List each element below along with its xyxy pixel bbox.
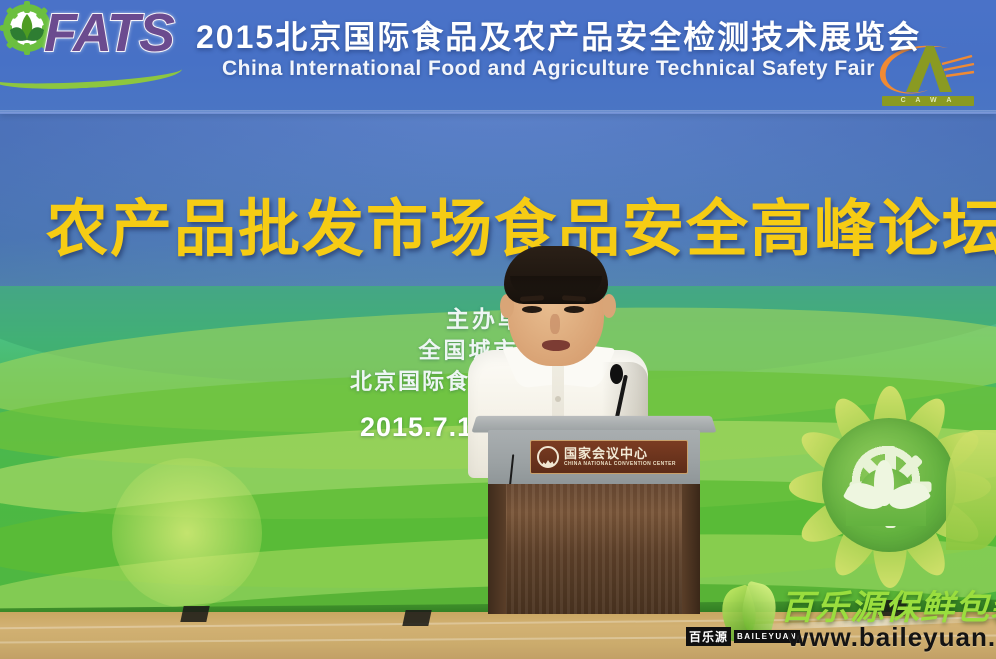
banner-headline-cn: 2015北京国际食品及农产品安全检测技术展览会 — [196, 12, 856, 58]
cawa-label: C A W A — [882, 96, 974, 106]
podium-body-left — [488, 484, 506, 614]
lectern-podium: 国家会议中心 CHINA NATIONAL CONVENTION CENTER — [474, 414, 714, 614]
venue-name-en: CHINA NATIONAL CONVENTION CENTER — [564, 462, 676, 467]
backdrop-clip — [180, 606, 209, 622]
watermark-url: www.baileyuan.cn — [788, 622, 996, 653]
eye-left — [522, 306, 542, 313]
shirt-button — [555, 396, 561, 402]
fats-wordmark: FATS — [44, 2, 174, 64]
podium-wood-body — [504, 484, 684, 614]
backdrop-clip — [402, 610, 431, 626]
eye-right — [564, 306, 584, 313]
venue-plaque: 国家会议中心 CHINA NATIONAL CONVENTION CENTER — [530, 440, 688, 474]
edge-petal — [946, 430, 996, 550]
fats-logo: FATS — [0, 0, 182, 102]
ccnc-logo-icon — [537, 446, 559, 468]
sun-circle — [112, 458, 262, 608]
ear-right — [602, 294, 616, 318]
conference-photo: FATS C A W A 2015北京国际食品及农产品安全检测技术展览会 Chi… — [0, 0, 996, 659]
speaker-hair — [504, 246, 608, 304]
nose — [550, 314, 560, 334]
banner-edge — [0, 110, 996, 114]
microphone-head-icon — [610, 364, 623, 384]
watermark-badge: 百乐源 BAILEYUAN — [686, 626, 800, 646]
banner-headline-en: China International Food and Agriculture… — [222, 57, 842, 81]
venue-plaque-text: 国家会议中心 CHINA NATIONAL CONVENTION CENTER — [564, 447, 676, 467]
cawa-bar: C A W A — [882, 96, 974, 106]
watermark-mark-cn: 百乐源 — [686, 627, 731, 646]
venue-name-cn: 国家会议中心 — [564, 447, 676, 460]
leaf-icon — [874, 460, 894, 506]
podium-body-right — [682, 484, 700, 614]
watermark: 百乐源保鲜包装 百乐源 BAILEYUAN www.baileyuan.cn — [700, 576, 996, 659]
mouth — [542, 340, 570, 351]
podium-front-panel: 国家会议中心 CHINA NATIONAL CONVENTION CENTER — [488, 430, 700, 486]
